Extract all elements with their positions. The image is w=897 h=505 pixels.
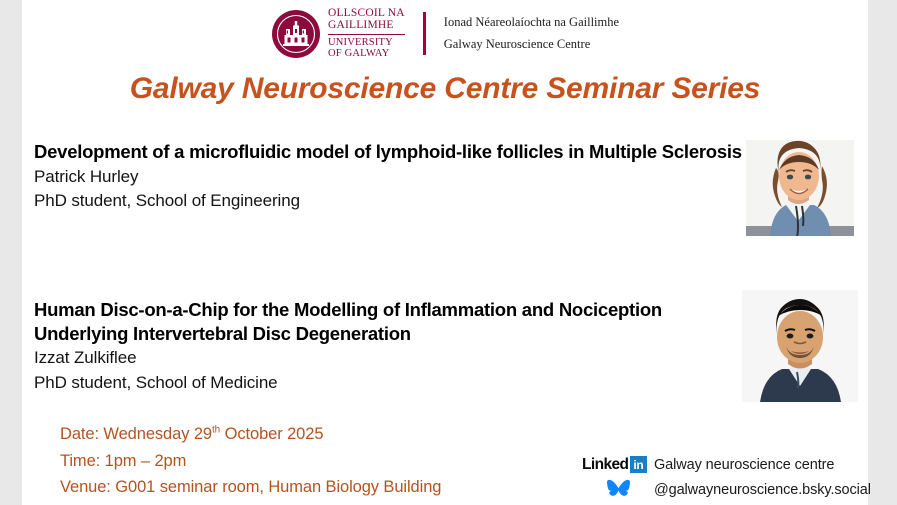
university-of-galway-crest-icon: GAILLIMH GALWAY	[271, 9, 321, 59]
seminar-1-text: Development of a microfluidic model of l…	[34, 140, 746, 214]
social-links: Linkedin Galway neuroscience centre @gal…	[582, 452, 882, 502]
document-viewer: GAILLIMH GALWAY	[0, 0, 897, 505]
date-value-pre: Wednesday 29	[99, 425, 212, 443]
seminar-1-speaker: Patrick Hurley	[34, 165, 746, 190]
linkedin-icon[interactable]: Linkedin	[582, 456, 654, 474]
seminar-1-speaker-photo	[746, 140, 854, 236]
page-title: Galway Neuroscience Centre Seminar Serie…	[22, 72, 868, 106]
poster-header: GAILLIMH GALWAY	[22, 8, 868, 60]
centre-wordmark: Ionad Néareolaíochta na Gaillimhe Galway…	[444, 12, 619, 56]
linkedin-wordmark-text: Linked	[582, 456, 628, 474]
date-label: Date:	[60, 425, 99, 443]
seminar-1-affiliation: PhD student, School of Engineering	[34, 189, 746, 214]
event-venue-line: Venue: G001 seminar room, Human Biology …	[60, 474, 441, 501]
univ-irish-line1: OLLSCOIL NA	[328, 7, 405, 19]
date-value-post: October 2025	[220, 425, 323, 443]
centre-name-english: Galway Neuroscience Centre	[444, 34, 619, 56]
university-wordmark: OLLSCOIL NA GAILLIMHE UNIVERSITY OF GALW…	[328, 8, 405, 60]
date-ordinal: th	[212, 425, 220, 436]
header-divider	[423, 12, 426, 55]
seminar-2-speaker-photo	[742, 290, 858, 402]
social-row-bluesky[interactable]: @galwayneuroscience.bsky.social	[582, 477, 882, 502]
time-value: 1pm – 2pm	[100, 452, 186, 470]
event-time-line: Time: 1pm – 2pm	[60, 448, 441, 475]
event-details: Date: Wednesday 29th October 2025 Time: …	[60, 421, 441, 501]
univ-english-line2: OF GALWAY	[328, 49, 405, 60]
event-date-line: Date: Wednesday 29th October 2025	[60, 421, 441, 448]
seminar-entry-2: Human Disc-on-a-Chip for the Modelling o…	[34, 298, 854, 396]
seminar-2-speaker: Izzat Zulkiflee	[34, 346, 746, 371]
seminar-1-title: Development of a microfluidic model of l…	[34, 140, 746, 164]
linkedin-handle[interactable]: Galway neuroscience centre	[654, 457, 834, 473]
univ-irish-line2: GAILLIMHE	[328, 20, 405, 32]
bluesky-butterfly-icon[interactable]	[582, 479, 654, 500]
poster-page: GAILLIMH GALWAY	[22, 0, 868, 505]
linkedin-badge: in	[630, 456, 647, 473]
venue-value: G001 seminar room, Human Biology Buildin…	[111, 478, 442, 496]
seminar-2-title: Human Disc-on-a-Chip for the Modelling o…	[34, 298, 746, 345]
centre-name-irish: Ionad Néareolaíochta na Gaillimhe	[444, 12, 619, 34]
social-row-linkedin[interactable]: Linkedin Galway neuroscience centre	[582, 452, 882, 477]
wordmark-rule	[328, 34, 405, 35]
seminar-2-text: Human Disc-on-a-Chip for the Modelling o…	[34, 298, 746, 396]
time-label: Time:	[60, 452, 100, 470]
venue-label: Venue:	[60, 478, 111, 496]
bluesky-handle[interactable]: @galwayneuroscience.bsky.social	[654, 482, 871, 498]
seminar-entry-1: Development of a microfluidic model of l…	[34, 140, 854, 214]
seminar-2-affiliation: PhD student, School of Medicine	[34, 371, 746, 396]
